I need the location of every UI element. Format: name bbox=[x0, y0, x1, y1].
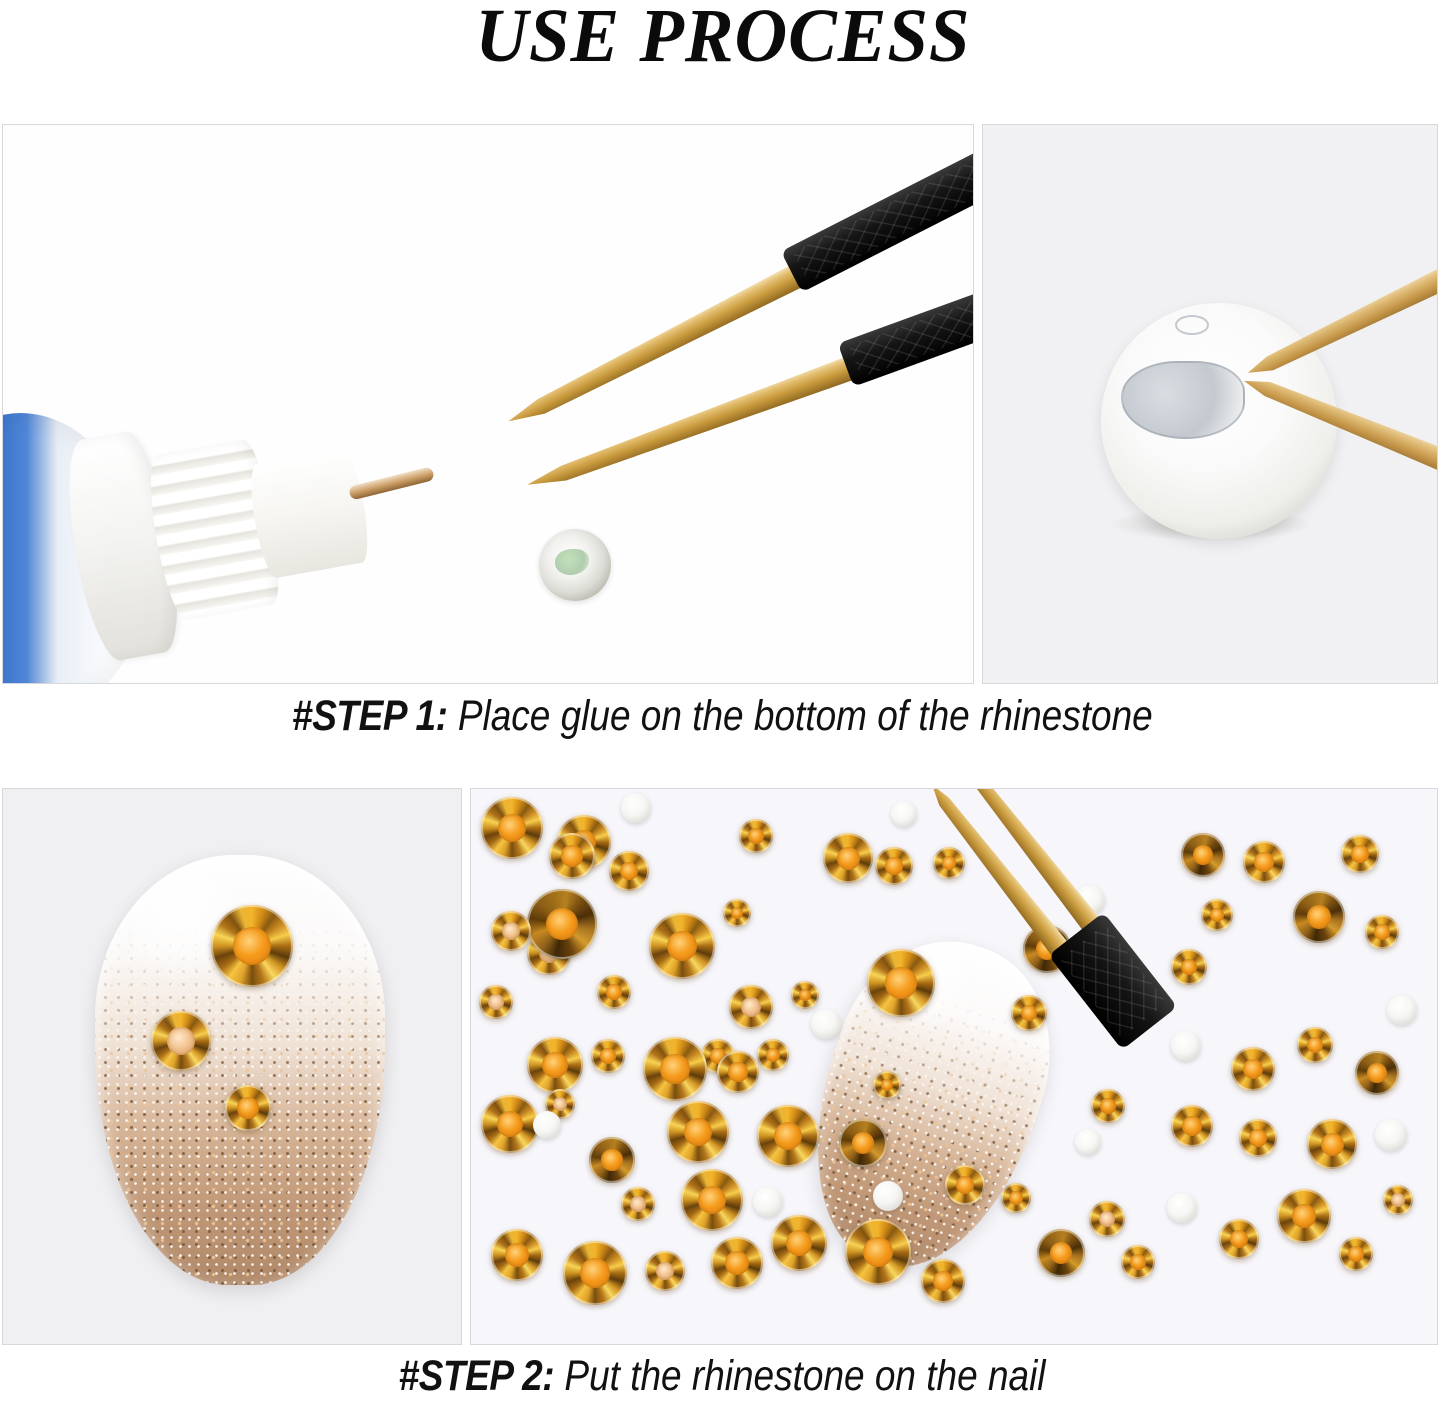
scattered-rhinestone bbox=[873, 1181, 903, 1211]
scattered-rhinestone bbox=[1231, 1047, 1275, 1091]
scattered-rhinestone bbox=[621, 793, 651, 823]
scattered-rhinestone bbox=[1171, 949, 1207, 985]
step-1-image-row bbox=[2, 124, 1438, 684]
scattered-rhinestone bbox=[723, 899, 751, 927]
scattered-rhinestone bbox=[1383, 1185, 1413, 1215]
scattered-rhinestone bbox=[1243, 841, 1285, 883]
scattered-rhinestone bbox=[491, 1229, 543, 1281]
scattered-rhinestone bbox=[873, 1071, 901, 1099]
scattered-rhinestone bbox=[609, 851, 649, 891]
rhinestone-on-nail bbox=[597, 975, 631, 1009]
scattered-rhinestone bbox=[717, 1051, 759, 1093]
finished-nail-photo bbox=[2, 788, 462, 1345]
scattered-rhinestone bbox=[1341, 835, 1379, 873]
glue-bottle-and-tweezers-photo bbox=[2, 124, 974, 684]
scattered-rhinestone bbox=[753, 1187, 783, 1217]
scattered-rhinestone bbox=[591, 1039, 625, 1073]
scattered-rhinestone bbox=[549, 833, 595, 879]
scattered-rhinestone bbox=[791, 981, 819, 1009]
scattered-rhinestone bbox=[1089, 1201, 1125, 1237]
scattered-rhinestone bbox=[527, 889, 597, 959]
scattered-rhinestone bbox=[479, 985, 513, 1019]
rhinestone-with-glue bbox=[539, 529, 611, 601]
scattered-rhinestone bbox=[649, 913, 715, 979]
tweezer-black-grip bbox=[781, 124, 974, 292]
step-2-text: Put the rhinestone on the nail bbox=[555, 1352, 1046, 1400]
scattered-rhinestone bbox=[1293, 891, 1345, 943]
scattered-rhinestone bbox=[563, 1241, 627, 1305]
scattered-rhinestone bbox=[711, 1237, 763, 1289]
rhinestone-field-photo bbox=[470, 788, 1438, 1345]
scattered-rhinestone bbox=[1001, 1183, 1031, 1213]
scattered-rhinestone bbox=[1037, 1229, 1085, 1277]
tweezer-metal-tip bbox=[503, 248, 836, 435]
tweezer-metal-tip bbox=[523, 343, 889, 497]
scattered-rhinestone bbox=[1075, 1129, 1101, 1155]
scattered-rhinestone bbox=[771, 1215, 827, 1271]
scattered-rhinestone bbox=[645, 1251, 685, 1291]
scattered-rhinestone bbox=[921, 1259, 965, 1303]
scattered-rhinestone bbox=[757, 1105, 819, 1167]
scattered-rhinestone bbox=[1171, 1031, 1201, 1061]
tweezer-upper-arm bbox=[1242, 231, 1438, 386]
scattered-rhinestone bbox=[1181, 833, 1225, 877]
scattered-rhinestone bbox=[1375, 1119, 1407, 1151]
scattered-rhinestone bbox=[491, 911, 531, 951]
scattered-rhinestone bbox=[945, 1165, 985, 1205]
scattered-rhinestone bbox=[1355, 1051, 1399, 1095]
scattered-rhinestone bbox=[757, 1039, 789, 1071]
scattered-rhinestone bbox=[1091, 1089, 1125, 1123]
glue-bottle-tip bbox=[348, 466, 435, 500]
scattered-rhinestone bbox=[1121, 1245, 1155, 1279]
step-1-text: Place glue on the bottom of the rhinesto… bbox=[448, 692, 1153, 740]
scattered-rhinestone bbox=[481, 797, 543, 859]
scattered-rhinestone bbox=[621, 1187, 655, 1221]
scattered-rhinestone bbox=[1307, 1119, 1357, 1169]
scattered-rhinestone bbox=[1339, 1237, 1373, 1271]
step-2-caption: #STEP 2: Put the rhinestone on the nail bbox=[0, 1352, 1445, 1401]
scattered-rhinestone bbox=[811, 1009, 841, 1039]
glue-bottle bbox=[2, 358, 378, 684]
scattered-rhinestone bbox=[681, 1169, 743, 1231]
scattered-rhinestone bbox=[533, 1111, 561, 1139]
header: USE PROCESS bbox=[0, 0, 1445, 110]
scattered-rhinestone bbox=[643, 1037, 707, 1101]
rhinestone-flat-back bbox=[1101, 303, 1337, 539]
rhinestone-on-nail bbox=[211, 905, 293, 987]
scattered-rhinestone bbox=[1387, 995, 1417, 1025]
scattered-rhinestone bbox=[1297, 1027, 1333, 1063]
scattered-rhinestone bbox=[845, 1219, 911, 1285]
scattered-rhinestone bbox=[1201, 899, 1233, 931]
scattered-rhinestone bbox=[1171, 1105, 1213, 1147]
rhinestone-on-nail bbox=[151, 1011, 211, 1071]
step-1-caption: #STEP 1: Place glue on the bottom of the… bbox=[0, 692, 1445, 741]
scattered-rhinestone bbox=[839, 1119, 887, 1167]
scattered-rhinestone bbox=[1277, 1189, 1331, 1243]
rhinestone-on-nail bbox=[225, 1085, 271, 1131]
step-2-label: #STEP 2: bbox=[399, 1352, 554, 1400]
scattered-rhinestone bbox=[1219, 1219, 1259, 1259]
step-1-label: #STEP 1: bbox=[292, 692, 447, 740]
scattered-rhinestone bbox=[1365, 915, 1399, 949]
glue-bottle-nozzle bbox=[245, 446, 373, 579]
scattered-rhinestone bbox=[481, 1095, 539, 1153]
scattered-rhinestone bbox=[527, 1037, 583, 1093]
scattered-rhinestone bbox=[1239, 1119, 1277, 1157]
scattered-rhinestone bbox=[1167, 1193, 1197, 1223]
scattered-rhinestone bbox=[739, 819, 773, 853]
step-2-image-row bbox=[2, 788, 1438, 1345]
scattered-rhinestone bbox=[589, 1137, 635, 1183]
tweezer-lower-arm bbox=[523, 234, 974, 473]
page-title: USE PROCESS bbox=[475, 0, 970, 74]
rhinestone-glue-closeup-photo bbox=[982, 124, 1438, 684]
scattered-rhinestone bbox=[729, 985, 773, 1029]
scattered-rhinestone bbox=[667, 1101, 729, 1163]
